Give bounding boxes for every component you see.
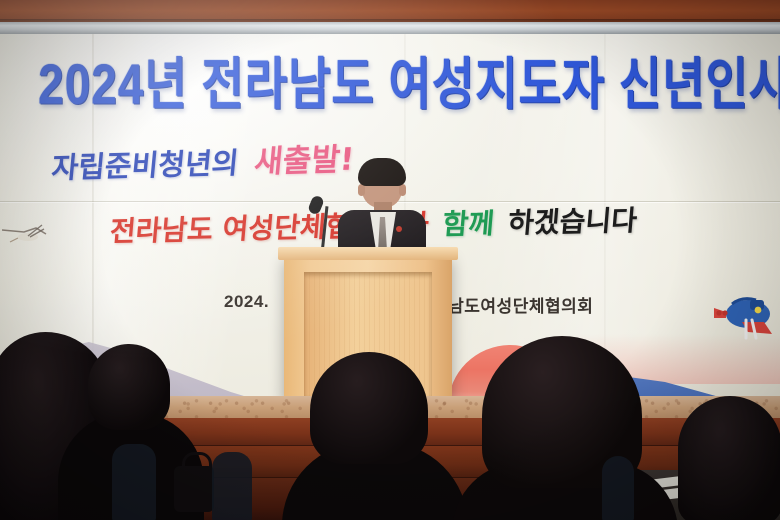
- banner-headline: 2024년 전라남도 여성지도자 신년인사: [38, 40, 780, 121]
- speaker-ear: [399, 184, 406, 196]
- chair-back: [602, 456, 634, 520]
- ceiling-band: [0, 0, 780, 24]
- ceiling-rail: [0, 22, 780, 34]
- chair-back: [212, 452, 252, 520]
- banner-organization: 라남도여성단체협의회: [432, 292, 593, 317]
- speaker-hair: [358, 158, 406, 186]
- handwritten-segment: 하겠습니다: [507, 204, 639, 240]
- handwritten-segment: 자립준비청년의: [50, 146, 240, 185]
- chair-back: [112, 444, 156, 520]
- banner-date: 2024.: [224, 292, 269, 312]
- podium-top-edge: [278, 247, 458, 260]
- audience-head: [678, 396, 780, 520]
- handbag-icon: [174, 466, 214, 512]
- airplane-mascot-icon: [712, 292, 776, 342]
- audience-head: [310, 352, 428, 464]
- crane-bird-graphic: [2, 220, 72, 246]
- handwritten-segment: 함께: [441, 207, 495, 241]
- lapel-pin-icon: [396, 226, 402, 232]
- handwritten-line-1: 자립준비청년의새출발!: [50, 133, 357, 187]
- photo-scene: 2024년 전라남도 여성지도자 신년인사 자립준비청년의새출발! 전라남도 여…: [0, 0, 780, 520]
- audience-head: [88, 344, 170, 430]
